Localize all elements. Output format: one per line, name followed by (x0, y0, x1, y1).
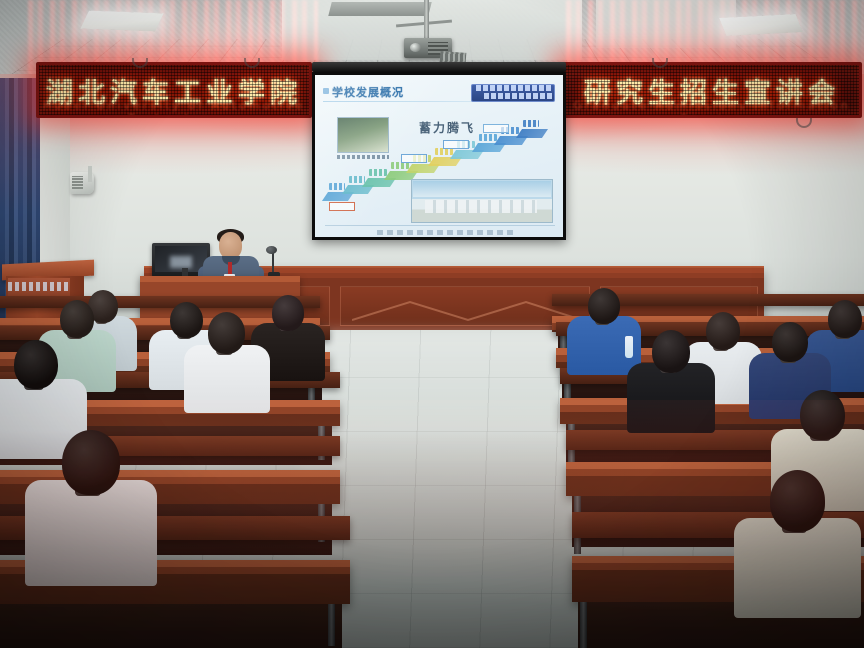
slide-timeline-label-10 (523, 120, 539, 127)
slide-campus-photo-buildings (425, 200, 537, 213)
slide-timeline-label-3 (369, 169, 387, 176)
projector-lens-icon (410, 43, 421, 52)
left-audience-a5-torso (184, 345, 270, 413)
right-audience-b6-head (800, 390, 845, 440)
lecture-hall-photo: 湖北汽车工业学院 Hubei University of Automotive … (0, 0, 864, 648)
slide-title-bullet-icon (323, 88, 329, 94)
projection-screen-housing (312, 62, 566, 72)
slide-footer-rule (325, 225, 555, 226)
right-audience-b2-head (706, 312, 740, 350)
right-audience-b4-head (772, 322, 808, 362)
speaker-mount-arm (88, 166, 92, 182)
led-ghost-row-left: Hubei University of Automotive Technolog… (39, 99, 309, 112)
slide-timeline-label-2 (349, 176, 365, 183)
right-audience-b1-head (588, 288, 620, 324)
left-audience-a2-head (170, 302, 203, 338)
microphone-icon (266, 246, 277, 254)
led-banner-left: 湖北汽车工业学院 Hubei University of Automotive … (36, 62, 312, 118)
slide-badge-text-line-1 (476, 85, 552, 91)
slide-callout-3 (483, 124, 509, 133)
right-audience-b5-head (828, 300, 862, 338)
projector-pole (424, 0, 429, 40)
slide-title: 学校发展概况 (332, 84, 404, 100)
left-audience-a5-head (208, 312, 245, 354)
monitor-screen-glow (170, 256, 192, 268)
desk-row-5-leg (328, 604, 335, 646)
desk-row-5-underside (0, 604, 342, 648)
slide-timeline-segment-10 (516, 129, 548, 138)
podium-engraved-text (8, 282, 68, 291)
slide-badge-text-line-2 (484, 93, 552, 99)
ceiling-duct (328, 2, 431, 16)
slide-callout-4 (329, 202, 355, 211)
presentation-slide: 学校发展概况 蓄力腾飞 (315, 75, 563, 237)
presenter-head (219, 232, 242, 259)
desk-row-10-leg (580, 602, 587, 648)
slide-footer-text (377, 230, 517, 235)
slide-historical-photo (337, 117, 389, 153)
right-audience-b3-torso (627, 363, 714, 432)
slide-timeline-label-1 (329, 183, 345, 190)
head-table-zigzag-molding (352, 300, 582, 322)
right-audience-b7-head (770, 470, 825, 532)
microphone-stem (272, 252, 274, 274)
led-banner-right: 研究生招生宣讲会 Graduate Admissions Information… (562, 62, 862, 118)
slide-timeline-label-4 (391, 162, 409, 169)
left-audience-a3-head (272, 295, 304, 331)
slide-calligraphy-text: 蓄力腾飞 (419, 119, 475, 136)
left-audience-a1-head (60, 300, 94, 338)
projection-screen: 学校发展概况 蓄力腾飞 (312, 72, 566, 240)
water-bottle (625, 336, 633, 358)
slide-timeline-label-8 (479, 134, 497, 141)
slide-callout-2 (443, 140, 469, 149)
slide-timeline-label-6 (435, 148, 453, 155)
slide-photo-caption (337, 155, 389, 159)
left-audience-a6-head (14, 340, 58, 389)
left-audience-a7-head (62, 430, 120, 495)
right-audience-b3-head (652, 330, 690, 373)
ceiling-panel-light-left (80, 11, 163, 32)
right-audience-b7-torso (734, 518, 860, 618)
speaker-grill-icon (72, 176, 83, 189)
slide-callout-1 (401, 154, 427, 163)
left-audience-a7-torso (25, 480, 158, 585)
slide-campus-photo-sky (413, 181, 551, 197)
led-ghost-row-right: Graduate Admissions Information Session (565, 99, 859, 112)
